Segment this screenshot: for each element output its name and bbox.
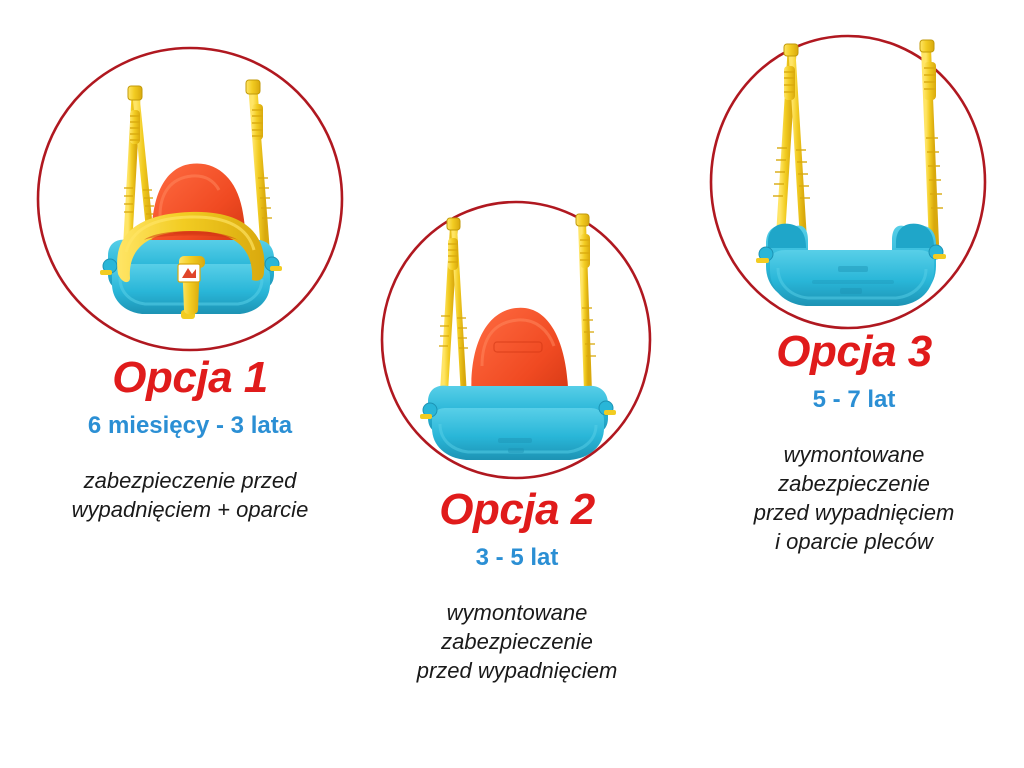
option-2-age: 3 - 5 lat	[342, 546, 692, 570]
option-3-figure	[704, 30, 1004, 336]
option-1-caption: Opcja 1 6 miesięcy - 3 lata zabezpieczen…	[0, 356, 380, 524]
option-1-desc-line-1: zabezpieczenie przed	[0, 466, 380, 495]
option-3-caption: Opcja 3 5 - 7 lat wymontowane zabezpiecz…	[686, 330, 1022, 556]
option-2-desc-line-1: wymontowane	[342, 598, 692, 627]
option-3-desc-line-3: przed wypadnięciem	[686, 498, 1022, 527]
option-2-desc-line-3: przed wypadnięciem	[342, 656, 692, 685]
option-1-figure	[0, 38, 380, 358]
option-2-title: Opcja 2	[342, 488, 692, 532]
option-2-caption: Opcja 2 3 - 5 lat wymontowane zabezpiecz…	[342, 488, 692, 685]
option-3-description: wymontowane zabezpieczenie przed wypadni…	[686, 440, 1022, 556]
option-2-description: wymontowane zabezpieczenie przed wypadni…	[342, 598, 692, 685]
option-1-age: 6 miesięcy - 3 lata	[0, 414, 380, 438]
option-3-desc-line-2: zabezpieczenie	[686, 469, 1022, 498]
option-1-description: zabezpieczenie przed wypadnięciem + opar…	[0, 466, 380, 524]
swing-ropes-3	[773, 40, 943, 248]
option-3-desc-line-1: wymontowane	[686, 440, 1022, 469]
option-1-desc-line-2: wypadnięciem + oparcie	[0, 495, 380, 524]
option-3-desc-line-4: i oparcie pleców	[686, 527, 1022, 556]
option-2-desc-line-2: zabezpieczenie	[342, 627, 692, 656]
option-2-figure	[372, 196, 662, 488]
comparison-board: Opcja 1 6 miesięcy - 3 lata zabezpieczen…	[0, 0, 1024, 768]
option-3-title: Opcja 3	[686, 330, 1022, 374]
option-3-age: 5 - 7 lat	[686, 388, 1022, 412]
option-1-title: Opcja 1	[0, 356, 380, 400]
